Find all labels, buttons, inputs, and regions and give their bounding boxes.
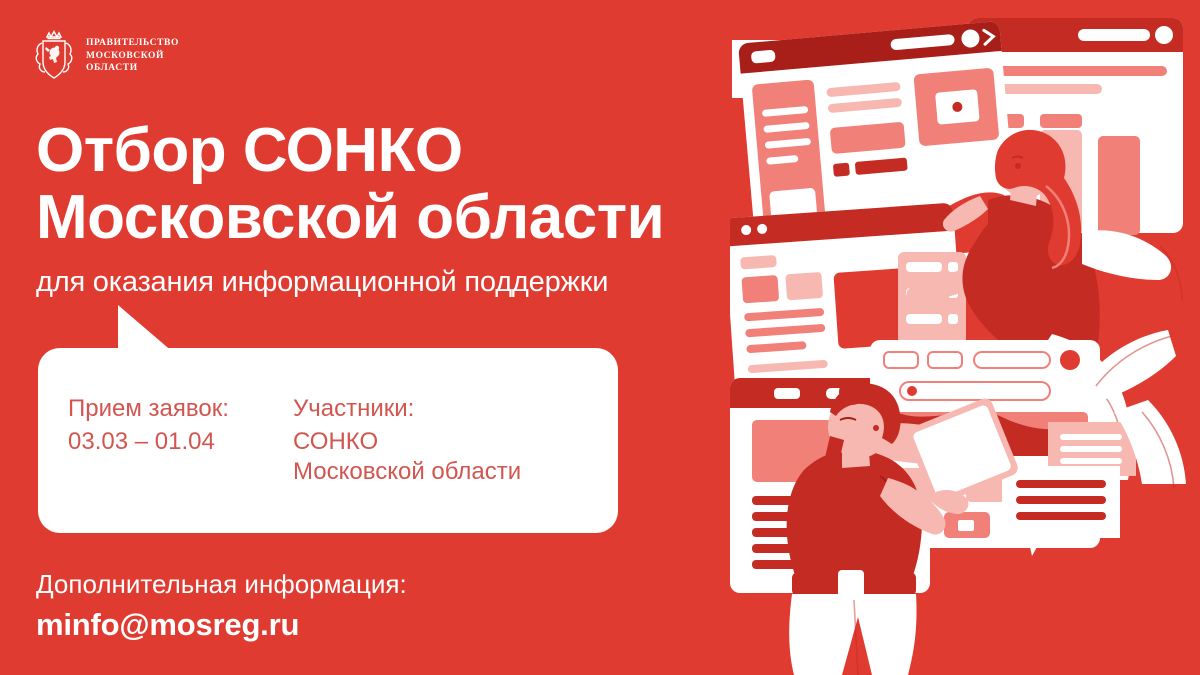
person-arm-illustration xyxy=(1080,330,1186,488)
info-card: Прием заявок: 03.03 – 01.04 Участники: С… xyxy=(38,348,618,533)
chat-bubble-icon xyxy=(1048,422,1136,488)
participants-label: Участники: xyxy=(293,392,521,427)
promo-banner: Правительство Московской области Отбор С… xyxy=(0,0,1200,675)
deadline-label: Прием заявок: xyxy=(68,392,293,427)
coat-of-arms-icon xyxy=(32,28,76,84)
participants-value: СОНКО Московской области xyxy=(293,427,521,487)
logo-wordmark: Правительство Московской области xyxy=(86,37,179,75)
ui-control-strip xyxy=(898,252,966,360)
title-line-1: Отбор СОНКО xyxy=(36,118,796,185)
logo-line-1: Правительство xyxy=(86,37,179,50)
deadline-column: Прием заявок: 03.03 – 01.04 xyxy=(68,392,293,533)
title-line-2: Московской области xyxy=(36,185,796,252)
chat-bubble-icon xyxy=(732,40,832,114)
deadline-value: 03.03 – 01.04 xyxy=(68,427,293,457)
person-illustration xyxy=(907,130,1182,480)
footer-label: Дополнительная информация: xyxy=(36,568,407,601)
footer-email: minfo@mosreg.ru xyxy=(36,605,407,645)
person-illustration xyxy=(787,379,1020,675)
participants-value-line-1: СОНКО xyxy=(293,427,521,457)
government-logo: Правительство Московской области xyxy=(32,28,179,84)
browser-window-mockup xyxy=(870,340,1100,548)
participants-column: Участники: СОНКО Московской области xyxy=(293,392,521,533)
page-subtitle: для оказания информационной поддержки xyxy=(36,266,796,299)
participants-value-line-2: Московской области xyxy=(293,457,521,487)
page-title: Отбор СОНКО Московской области xyxy=(36,118,796,252)
headline-block: Отбор СОНКО Московской области для оказа… xyxy=(36,118,796,299)
chat-bubble-icon xyxy=(1002,466,1120,556)
footer-contact: Дополнительная информация: minfo@mosreg.… xyxy=(36,568,407,645)
browser-window-mockup xyxy=(730,378,930,593)
browser-window-mockup xyxy=(968,18,1183,235)
illustration xyxy=(730,0,1200,675)
logo-line-3: области xyxy=(86,62,179,75)
logo-line-2: Московской xyxy=(86,50,179,63)
